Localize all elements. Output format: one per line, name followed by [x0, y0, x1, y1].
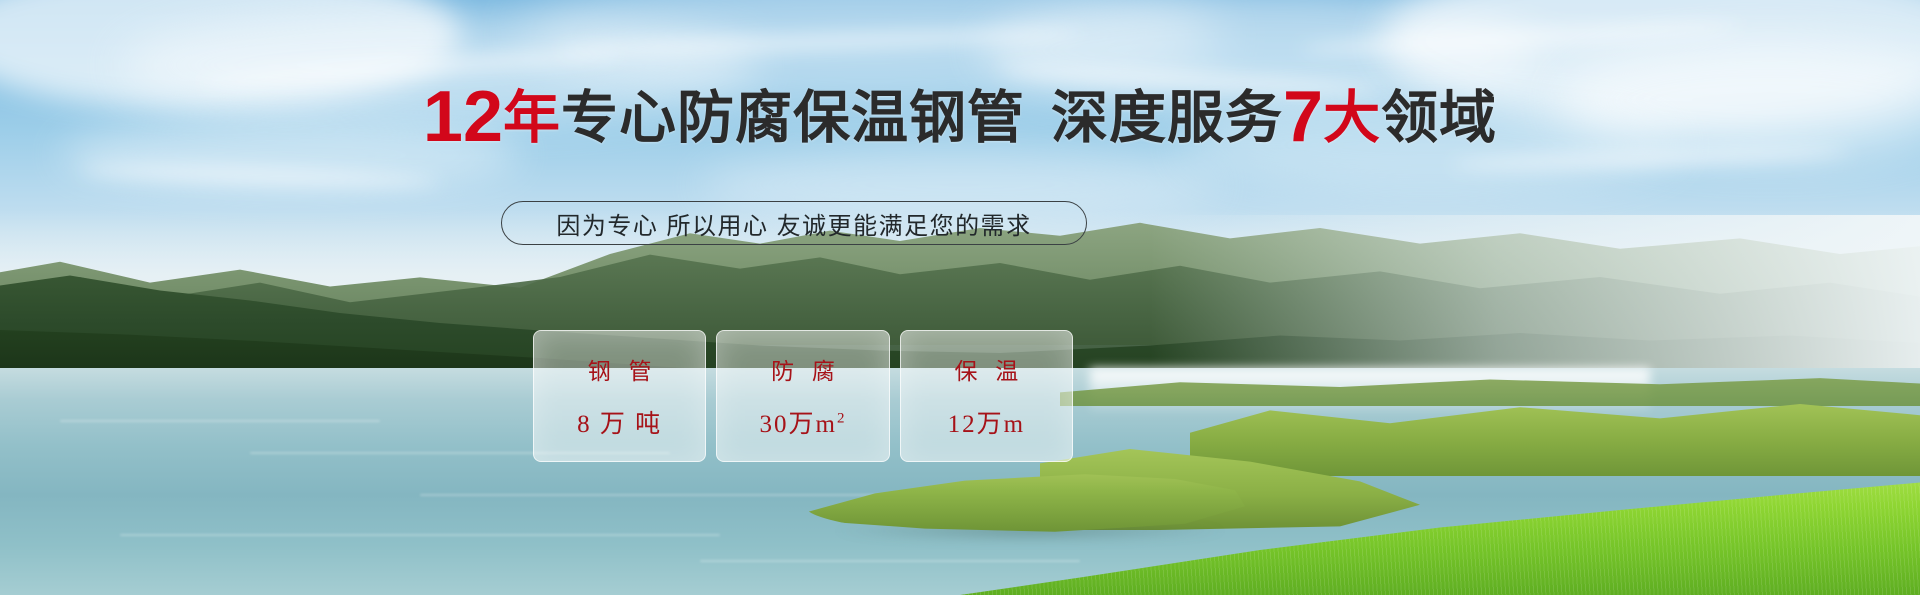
- headline-years-number: 12: [423, 77, 503, 157]
- headline-second-text: 深度服务: [1051, 86, 1283, 150]
- headline-years-unit: 年: [503, 86, 561, 150]
- water-ripple: [120, 534, 720, 536]
- water-ripple: [60, 420, 380, 422]
- stat-card-title: 防 腐: [765, 352, 841, 386]
- stat-card-anticorrosion: 防 腐 30万m2: [716, 330, 889, 462]
- stat-card-value-text: 8 万 吨: [577, 411, 662, 438]
- headline: 12年专心防腐保温钢管深度服务7大领域: [0, 84, 1920, 151]
- headline-main-text: 专心防腐保温钢管: [561, 86, 1025, 150]
- stat-card-title: 保 温: [948, 352, 1024, 386]
- stat-card-title: 钢 管: [582, 352, 658, 386]
- stat-card-value-text: 12万m: [948, 411, 1025, 438]
- stat-card-value: 30万m2: [760, 404, 847, 440]
- headline-fields-number: 7: [1283, 77, 1323, 157]
- water-ripple: [420, 494, 920, 496]
- water-ripple: [700, 560, 1080, 562]
- promo-banner: 12年专心防腐保温钢管深度服务7大领域 因为专心 所以用心 友诚更能满足您的需求…: [0, 0, 1920, 595]
- subtitle-pill: 因为专心 所以用心 友诚更能满足您的需求: [501, 201, 1087, 245]
- stat-card-list: 钢 管 8 万 吨 防 腐 30万m2 保 温 12万m: [533, 266, 1073, 466]
- subtitle-text: 因为专心 所以用心 友诚更能满足您的需求: [556, 206, 1031, 241]
- stat-card-value: 12万m: [948, 404, 1025, 440]
- headline-tail-text: 领域: [1381, 86, 1497, 150]
- stat-card-value-text: 30万m: [760, 411, 837, 438]
- stat-card-value-superscript: 2: [837, 411, 847, 427]
- stat-card-insulation: 保 温 12万m: [900, 330, 1073, 462]
- stat-card-steel-pipe: 钢 管 8 万 吨: [533, 330, 706, 462]
- stat-card-value: 8 万 吨: [577, 404, 662, 440]
- headline-fields-unit: 大: [1323, 86, 1381, 150]
